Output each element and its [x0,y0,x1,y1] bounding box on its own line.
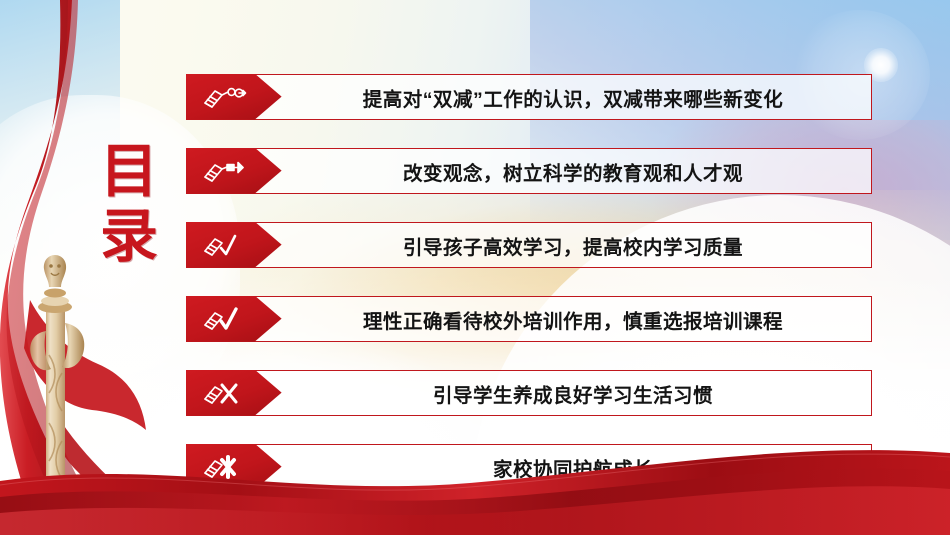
toc-row-label: 改变观念，树立科学的教育观和人才观 [187,157,871,186]
toc-row-tag [186,222,282,268]
toc-row[interactable]: 改变观念，树立科学的教育观和人才观 [186,148,872,194]
toc-row-tag [186,74,282,120]
toc-row-label: 理性正确看待校外培训作用，慎重选报培训课程 [187,305,871,334]
toc-row-tag [186,148,282,194]
pencil-swirl-icon [202,84,248,110]
page-title: 目 录 [88,140,172,270]
toc-row[interactable]: 引导学生养成良好学习生活习惯 [186,370,872,416]
toc-row[interactable]: 提高对“双减”工作的认识，双减带来哪些新变化 [186,74,872,120]
pencil-check-icon [202,232,248,258]
page-title-char-2: 录 [88,205,172,270]
toc-list: 提高对“双减”工作的认识，双减带来哪些新变化 改变观念，树立科学的 [186,74,872,490]
slide-root: 目 录 提高对“双减”工作的认识，双减带来哪些新 [0,0,950,535]
toc-row[interactable]: 引导孩子高效学习，提高校内学习质量 [186,222,872,268]
toc-row-tag [186,370,282,416]
toc-row[interactable]: 理性正确看待校外培训作用，慎重选报培训课程 [186,296,872,342]
bottom-red-silk-decoration [0,435,950,535]
pencil-x-icon [202,380,248,406]
page-title-char-1: 目 [88,140,172,205]
toc-row-label: 提高对“双减”工作的认识，双减带来哪些新变化 [187,83,871,112]
toc-row-label: 引导学生养成良好学习生活习惯 [187,379,871,408]
toc-row-label: 引导孩子高效学习，提高校内学习质量 [187,231,871,260]
pencil-check2-icon [202,306,248,332]
toc-row-tag [186,296,282,342]
pencil-pin-icon [202,158,248,184]
